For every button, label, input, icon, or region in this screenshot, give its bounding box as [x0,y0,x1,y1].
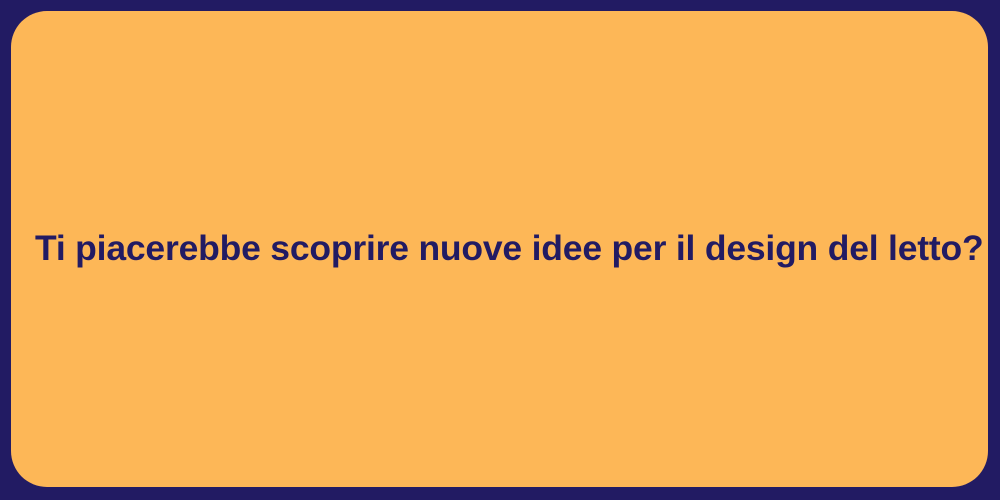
card-panel: Ti piacerebbe scoprire nuove idee per il… [11,11,988,487]
card-frame: Ti piacerebbe scoprire nuove idee per il… [0,0,1000,500]
headline-question: Ti piacerebbe scoprire nuove idee per il… [11,228,988,269]
